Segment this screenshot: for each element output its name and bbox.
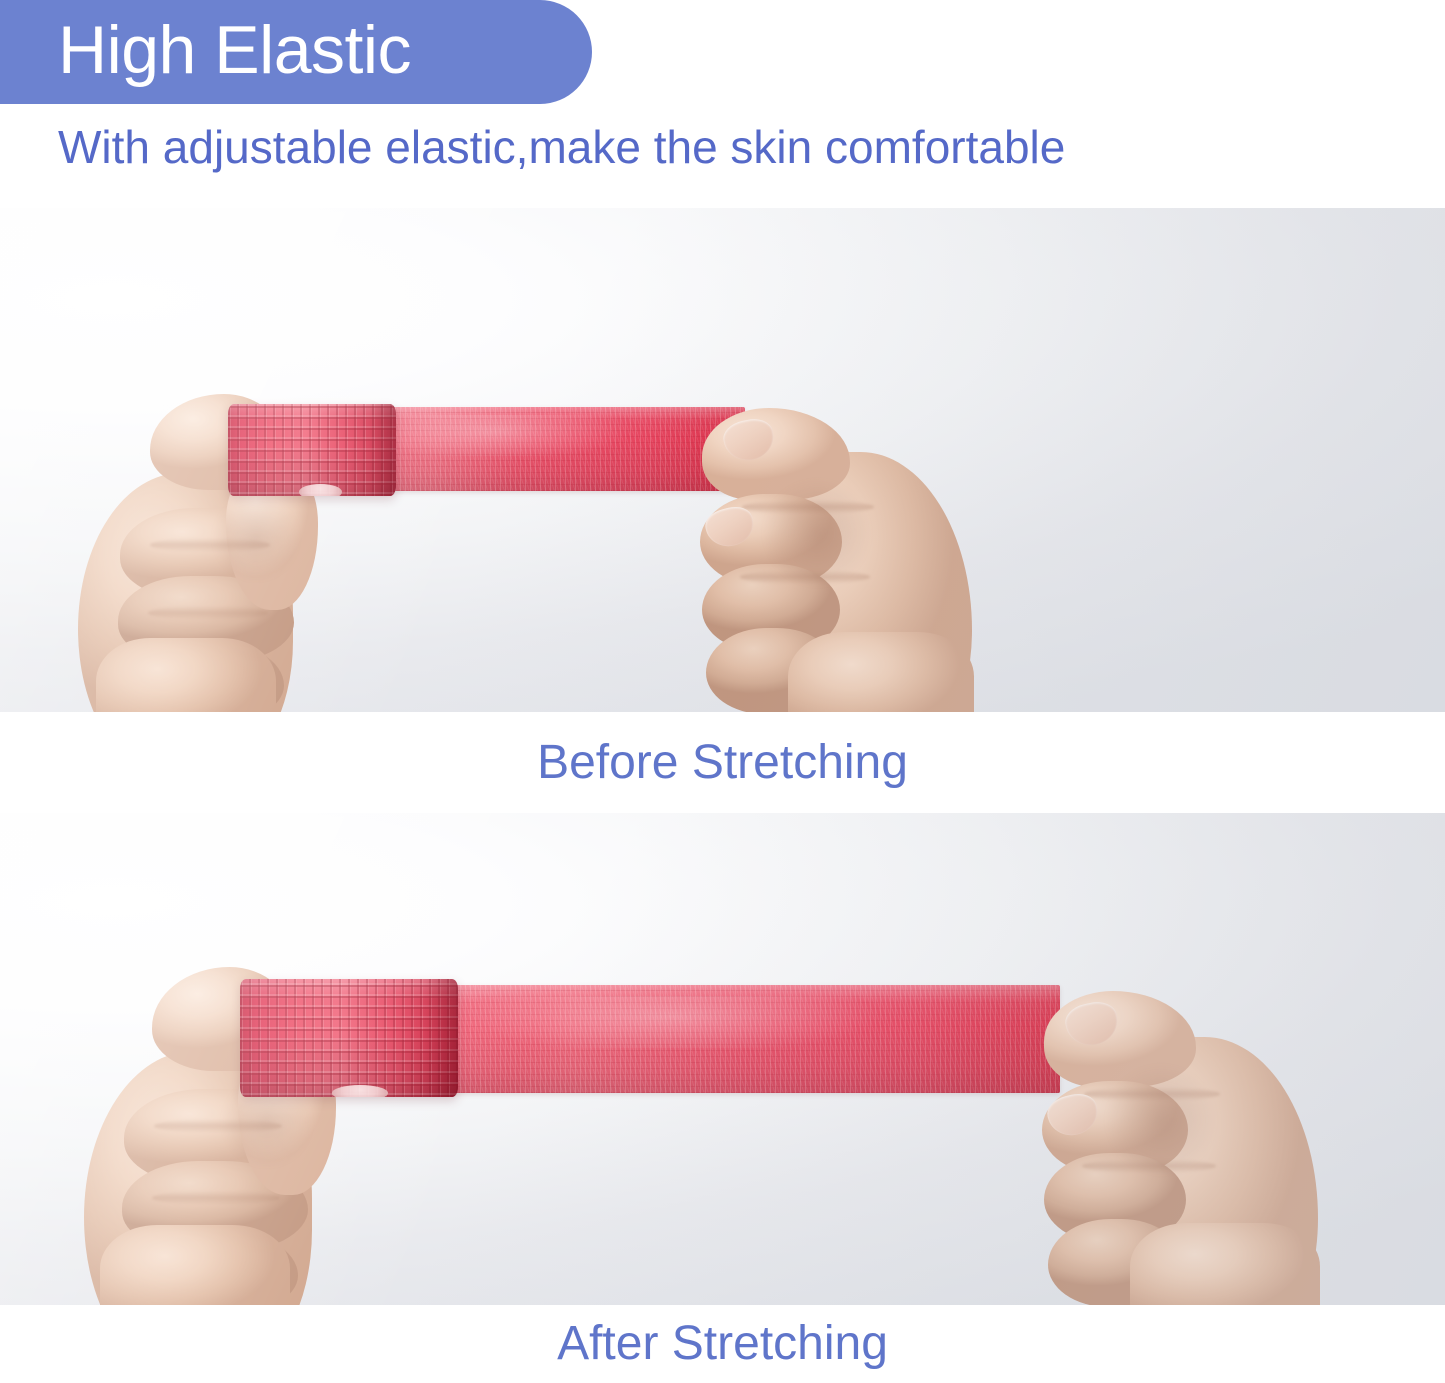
bandage-roll-core bbox=[299, 484, 343, 496]
right-wrist-after bbox=[1130, 1223, 1320, 1305]
right-hand-shadow bbox=[742, 458, 892, 608]
subtitle-text: With adjustable elastic,make the skin co… bbox=[58, 124, 1065, 170]
photo-after-stretching bbox=[0, 813, 1445, 1305]
caption-before-stretching: Before Stretching bbox=[537, 739, 908, 787]
left-wrist-after bbox=[100, 1225, 290, 1305]
photo-before-stretching bbox=[0, 208, 1445, 712]
left-wrist bbox=[96, 638, 276, 712]
badge-label: High Elastic bbox=[58, 16, 411, 84]
bandage-sheen-stretched bbox=[428, 996, 914, 1048]
right-wrist bbox=[788, 632, 974, 712]
caption-band-after: After Stretching bbox=[0, 1305, 1445, 1383]
right-hand-after-shadow bbox=[1084, 1043, 1238, 1197]
left-hand-after-crease-2 bbox=[152, 1191, 280, 1205]
bandage-roll-stretched bbox=[240, 979, 458, 1097]
bandage-roll-core-after bbox=[332, 1085, 389, 1097]
caption-after-stretching: After Stretching bbox=[557, 1320, 888, 1368]
feature-badge: High Elastic bbox=[0, 0, 592, 104]
bandage-roll-edge-shadow-after bbox=[423, 979, 458, 1097]
left-hand-crease-2 bbox=[148, 606, 268, 620]
left-hand-shadow bbox=[196, 478, 316, 598]
product-infographic: High Elastic With adjustable elastic,mak… bbox=[0, 0, 1445, 1383]
caption-band-before: Before Stretching bbox=[0, 712, 1445, 813]
bandage-roll-unstretched bbox=[228, 404, 396, 496]
bandage-roll-edge-shadow bbox=[369, 404, 396, 496]
